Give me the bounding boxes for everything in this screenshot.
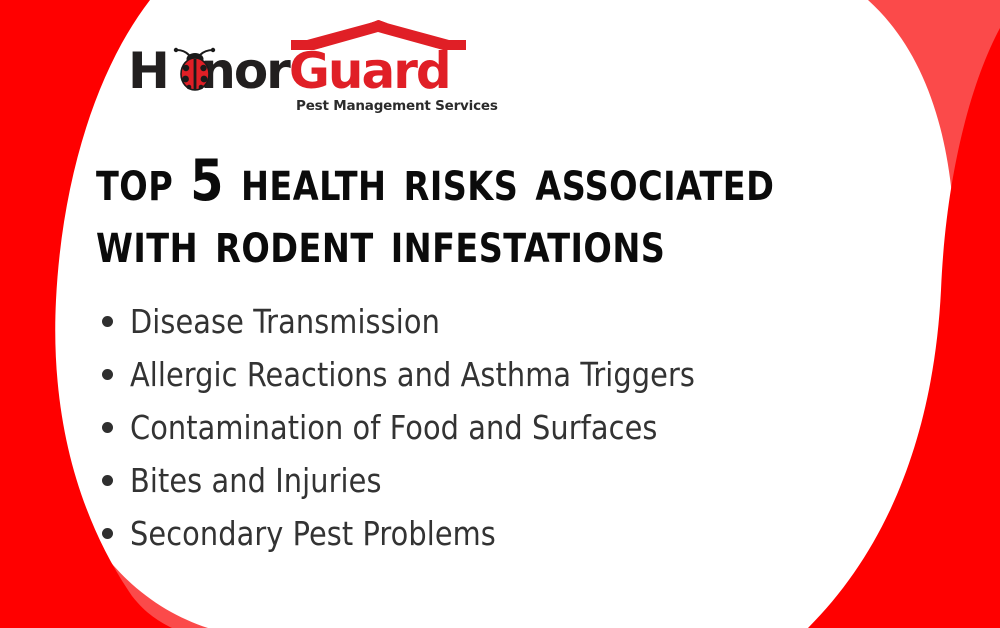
page-title-line-2: with Rodent Infestations — [96, 212, 868, 274]
list-item: Contamination of Food and Surfaces — [100, 401, 860, 454]
list-item-label: Allergic Reactions and Asthma Triggers — [130, 355, 695, 394]
health-risks-list: Disease Transmission Allergic Reactions … — [100, 295, 860, 560]
list-item-label: Bites and Injuries — [130, 461, 382, 500]
logo-wordmark-guard: Guard — [289, 42, 450, 100]
ladybug-icon — [172, 46, 218, 92]
bullet-dot-icon — [102, 528, 113, 539]
brand-logo: HonorGuard Pest Management Services — [128, 20, 508, 116]
bullet-dot-icon — [102, 316, 113, 327]
bullet-dot-icon — [102, 369, 113, 380]
list-item-label: Secondary Pest Problems — [130, 514, 496, 553]
page-title-line-1: Top 5 Health Risks Associated — [96, 150, 868, 212]
right-salmon-swoosh — [868, 0, 1000, 600]
logo-wordmark-h: H — [128, 42, 168, 100]
list-item-label: Contamination of Food and Surfaces — [130, 408, 657, 447]
poster-canvas: HonorGuard Pest Management Services Top — [0, 0, 1000, 628]
list-item: Allergic Reactions and Asthma Triggers — [100, 348, 860, 401]
list-item: Disease Transmission — [100, 295, 860, 348]
right-dark-gray-swoosh — [912, 0, 1000, 560]
bullet-dot-icon — [102, 475, 113, 486]
page-title: Top 5 Health Risks Associated with Roden… — [96, 150, 868, 274]
list-item: Bites and Injuries — [100, 454, 860, 507]
list-item-label: Disease Transmission — [130, 302, 440, 341]
logo-tagline: Pest Management Services — [296, 98, 498, 114]
bullet-dot-icon — [102, 422, 113, 433]
list-item: Secondary Pest Problems — [100, 507, 860, 560]
